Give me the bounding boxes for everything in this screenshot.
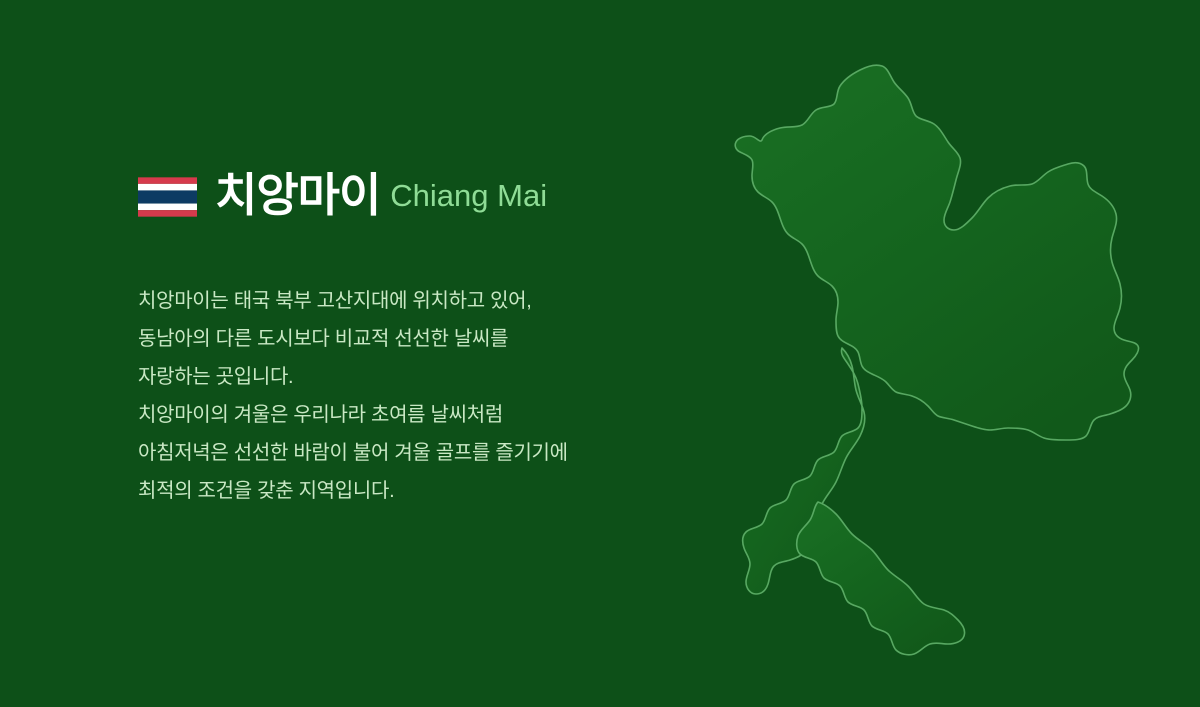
description-line: 자랑하는 곳입니다. (138, 358, 738, 396)
description-line: 아침저녁은 선선한 바람이 불어 겨울 골프를 즐기기에 (138, 434, 738, 472)
page-title: 치앙마이 Chiang Mai (138, 166, 738, 224)
description-line: 치앙마이의 겨울은 우리나라 초여름 날씨처럼 (138, 396, 738, 434)
thailand-map-svg (700, 30, 1140, 680)
thailand-map: 치앙마이 방콕 파타야 (700, 30, 1140, 680)
page-root: 치앙마이 Chiang Mai 치앙마이는 태국 북부 고산지대에 위치하고 있… (0, 0, 1200, 707)
thailand-outline-path (735, 65, 1138, 440)
thailand-southern-tail-path (797, 502, 965, 655)
description-line: 최적의 조건을 갖춘 지역입니다. (138, 472, 738, 510)
title-korean: 치앙마이 (215, 172, 380, 218)
thailand-flag-icon (138, 177, 197, 217)
description-text: 치앙마이는 태국 북부 고산지대에 위치하고 있어, 동남아의 다른 도시보다 … (138, 282, 738, 510)
description-line: 동남아의 다른 도시보다 비교적 선선한 날씨를 (138, 320, 738, 358)
description-line: 치앙마이는 태국 북부 고산지대에 위치하고 있어, (138, 282, 738, 320)
title-english: Chiang Mai (390, 180, 547, 211)
info-panel: 치앙마이 Chiang Mai 치앙마이는 태국 북부 고산지대에 위치하고 있… (138, 166, 738, 510)
